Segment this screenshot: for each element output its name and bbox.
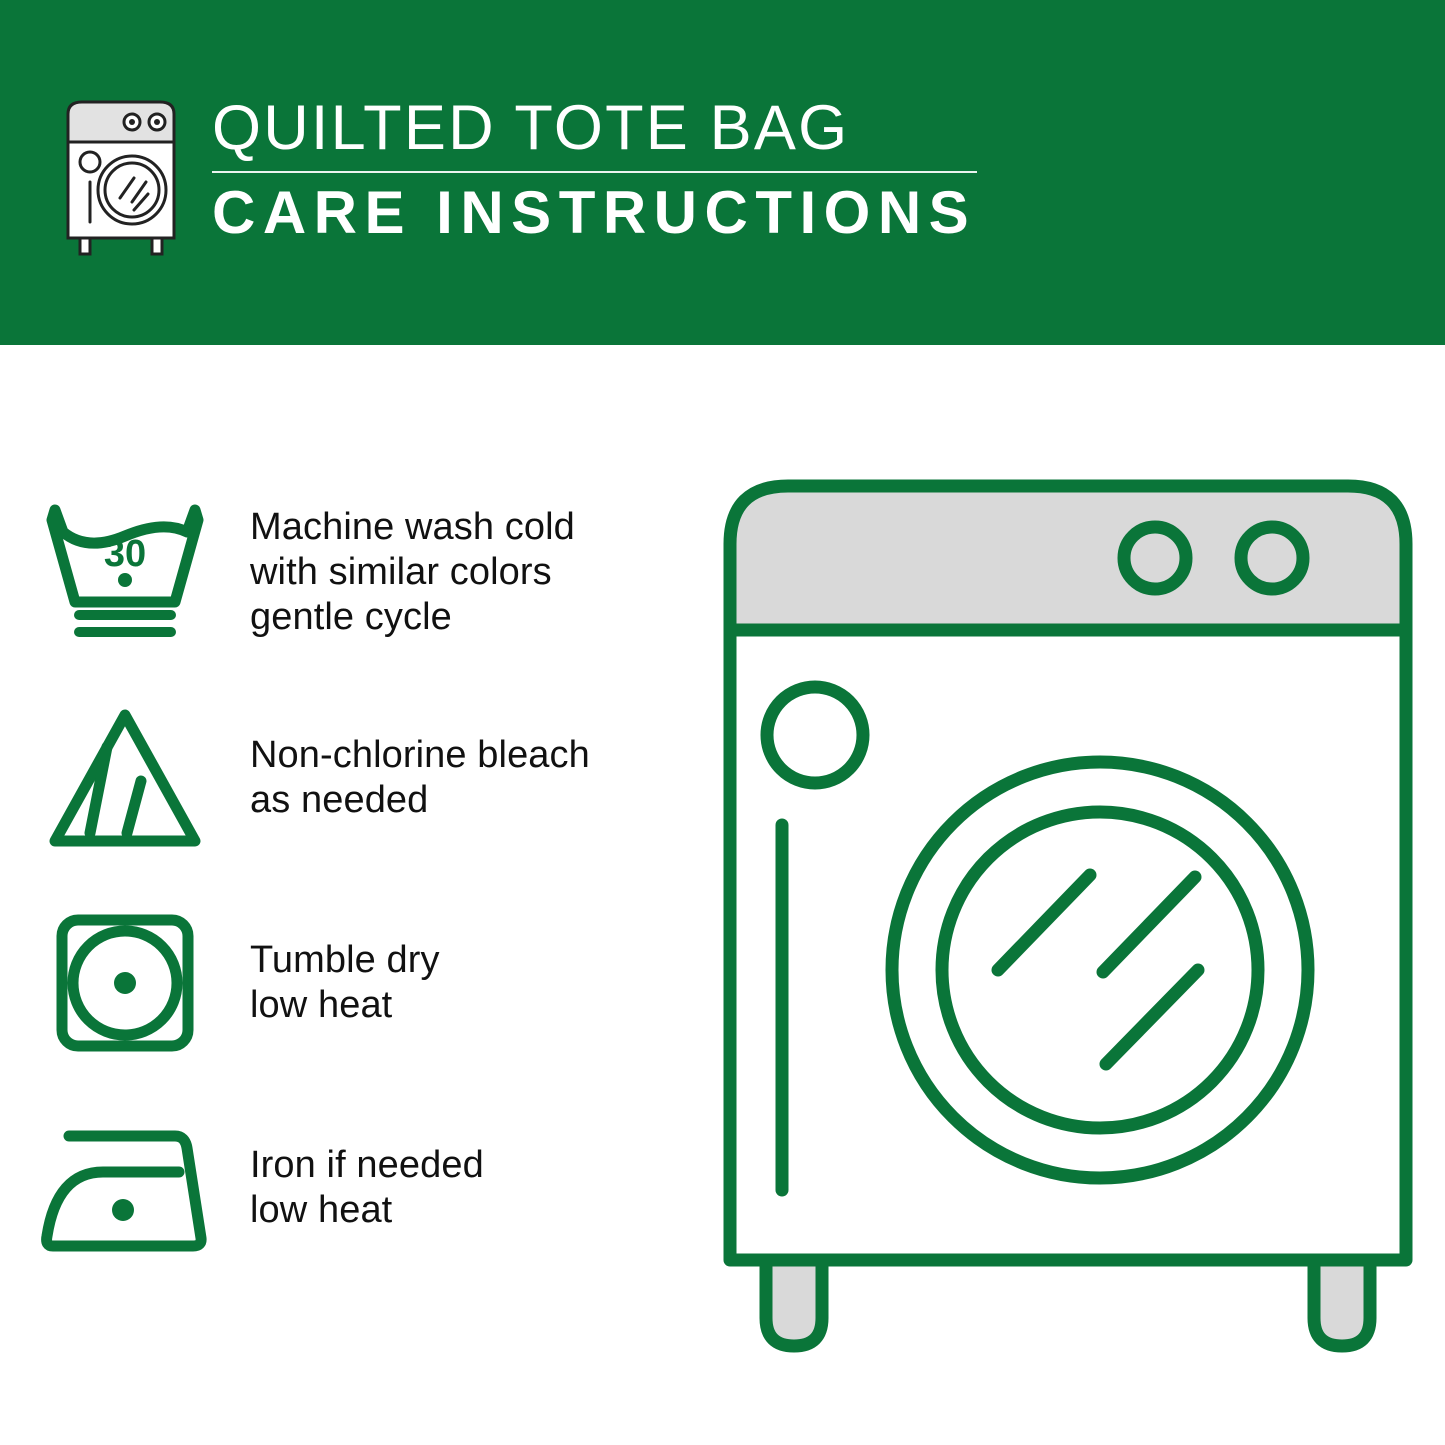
title-divider	[212, 171, 977, 173]
svg-text:30: 30	[104, 533, 146, 575]
list-item: Tumble dry low heat	[0, 880, 700, 1085]
page-title: QUILTED TOTE BAG	[212, 94, 992, 162]
care-instruction-list: 30 Machine wash cold with similar colors…	[0, 470, 700, 1290]
header-text-block: QUILTED TOTE BAG CARE INSTRUCTIONS	[212, 92, 992, 246]
list-item-label: Iron if needed low heat	[250, 1143, 700, 1233]
iron-low-icon	[0, 1120, 250, 1256]
page-subtitle: CARE INSTRUCTIONS	[212, 180, 992, 246]
tumble-dry-low-icon	[0, 908, 250, 1058]
header-content: QUILTED TOTE BAG CARE INSTRUCTIONS	[62, 92, 992, 267]
list-item: Non-chlorine bleach as needed	[0, 675, 700, 880]
header-band: QUILTED TOTE BAG CARE INSTRUCTIONS	[0, 0, 1445, 345]
non-chlorine-bleach-icon	[0, 703, 250, 853]
front-load-washing-machine-illustration	[718, 470, 1418, 1375]
list-item: 30 Machine wash cold with similar colors…	[0, 470, 700, 675]
list-item-label: Tumble dry low heat	[250, 938, 700, 1028]
list-item-label: Non-chlorine bleach as needed	[250, 733, 700, 823]
list-item: Iron if needed low heat	[0, 1085, 700, 1290]
washing-machine-icon	[62, 98, 180, 258]
machine-wash-30-gentle-icon: 30	[0, 498, 250, 648]
list-item-label: Machine wash cold with similar colors ge…	[250, 505, 700, 640]
